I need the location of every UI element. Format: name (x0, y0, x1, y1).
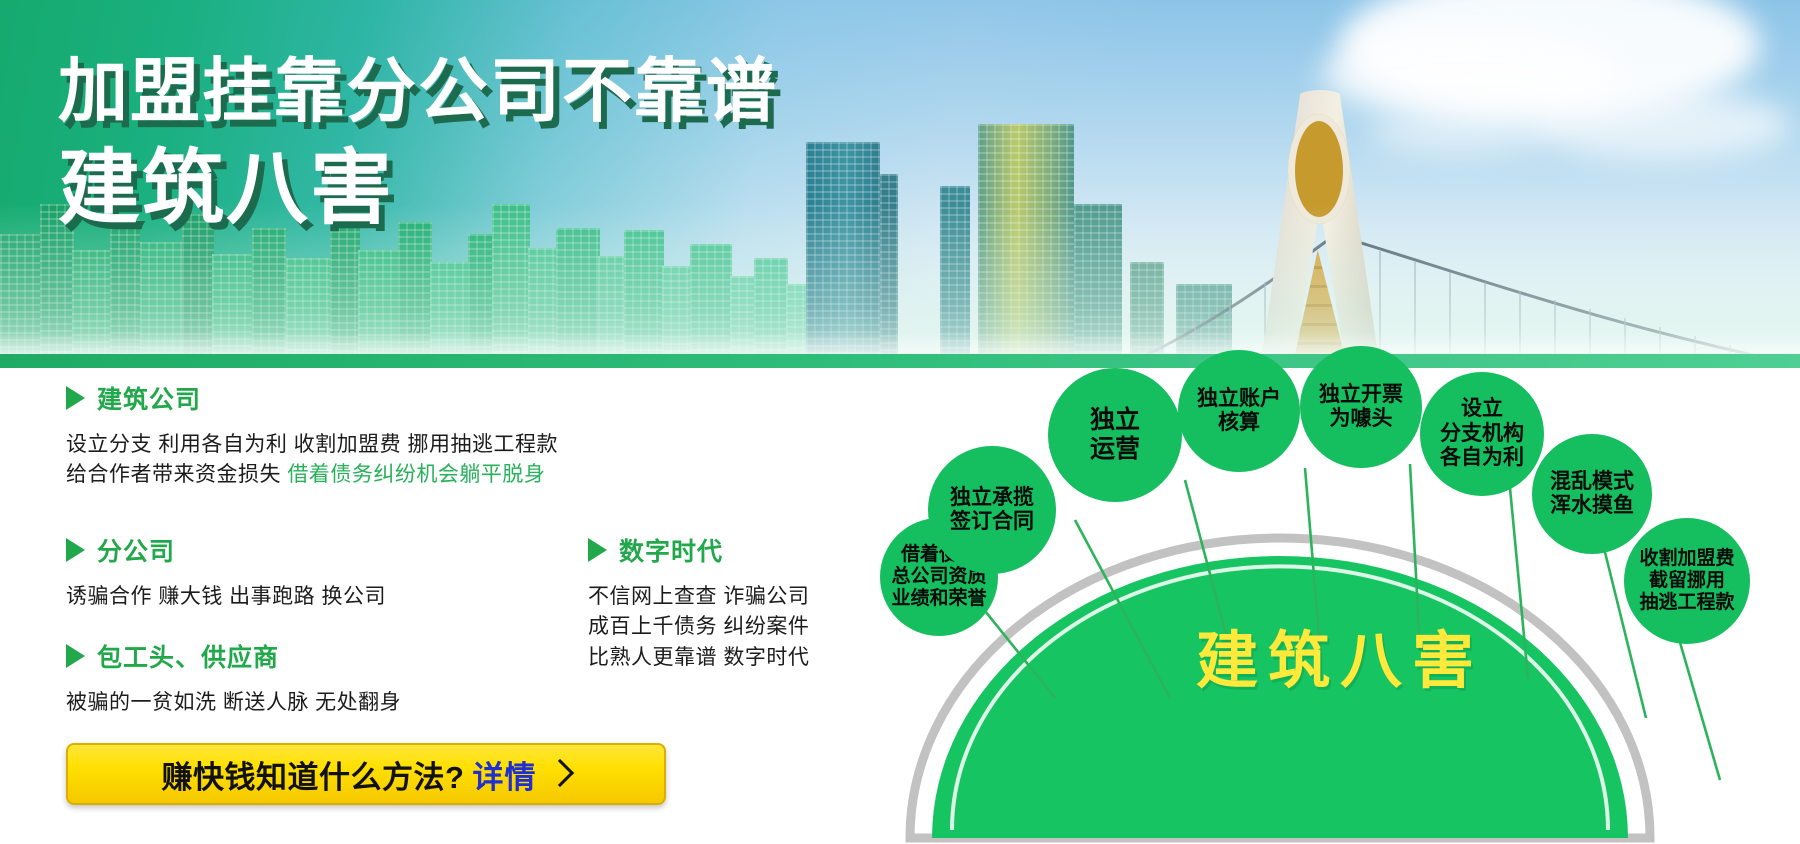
line-text: 设立分支 利用各自为利 收割加盟费 挪用抽逃工程款 (66, 433, 558, 456)
section-title: 包工头、供应商 (97, 638, 279, 674)
cta-label: 赚快钱知道什么方法? (162, 752, 465, 797)
section-title: 分公司 (97, 532, 175, 568)
triangle-bullet-icon (66, 386, 85, 410)
hero-title-line2: 建筑八害 (58, 148, 778, 230)
hero-title: 加盟挂靠分公司不靠谱 建筑八害 (58, 56, 778, 230)
section-heading: 包工头、供应商 (66, 638, 401, 674)
section-heading: 建筑公司 (66, 380, 558, 416)
bubble-independent-account[interactable]: 独立账户核算 (1178, 350, 1300, 472)
bubble-text: 独立账户核算 (1197, 387, 1281, 436)
section-branch-company: 分公司 诱骗合作 赚大钱 出事跑路 换公司 (66, 532, 386, 612)
bubble-harvest-franchise-fees[interactable]: 收割加盟费截留挪用抽逃工程款 (1624, 518, 1750, 644)
triangle-bullet-icon (66, 538, 85, 562)
triangle-bullet-icon (66, 644, 85, 668)
section-line: 诱骗合作 赚大钱 出事跑路 换公司 (66, 582, 386, 612)
bubble-text: 独立开票为噱头 (1319, 383, 1403, 432)
section-title: 数字时代 (619, 532, 723, 568)
banner-bottom-fade (0, 332, 1800, 354)
section-contractor-supplier: 包工头、供应商 被骗的一贫如洗 断送人脉 无处翻身 (66, 638, 401, 718)
hero-title-line1: 加盟挂靠分公司不靠谱 (58, 56, 778, 126)
section-line: 比熟人更靠谱 数字时代 (588, 643, 809, 673)
banner-green-strip (0, 354, 1800, 368)
bubble-independent-invoicing[interactable]: 独立开票为噱头 (1300, 346, 1422, 468)
poster-root: 加盟挂靠分公司不靠谱 建筑八害 建筑公司 设立分支 利用各自为利 收割加盟费 挪… (0, 0, 1800, 844)
line-highlight: 借着债务纠纷机会躺平脱身 (287, 463, 545, 486)
section-line: 设立分支 利用各自为利 收割加盟费 挪用抽逃工程款 (66, 430, 558, 460)
bubble-independent-contracting[interactable]: 独立承揽签订合同 (928, 446, 1056, 574)
section-line: 被骗的一贫如洗 断送人脉 无处翻身 (66, 688, 401, 718)
bubble-text: 设立分支机构各自为利 (1440, 397, 1524, 470)
section-heading: 分公司 (66, 532, 386, 568)
section-digital-era: 数字时代 不信网上查查 诈骗公司 成百上千债务 纠纷案件 比熟人更靠谱 数字时代 (588, 532, 809, 673)
section-line: 给合作者带来资金损失 借着债务纠纷机会躺平脱身 (66, 460, 558, 490)
section-line: 成百上千债务 纠纷案件 (588, 612, 809, 642)
bubble-text: 收割加盟费截留挪用抽逃工程款 (1639, 548, 1734, 614)
bubble-text: 独立运营 (1090, 406, 1140, 464)
section-construction-company: 建筑公司 设立分支 利用各自为利 收割加盟费 挪用抽逃工程款 给合作者带来资金损… (66, 380, 558, 491)
line-text: 给合作者带来资金损失 (66, 463, 287, 486)
bubble-diagram: 建筑八害 借着使用总公司资质业绩和荣誉 独立承揽签订合同 独立运营 独立账户核算… (880, 368, 1800, 844)
triangle-bullet-icon (588, 538, 607, 562)
bubble-text: 混乱模式浑水摸鱼 (1550, 470, 1634, 519)
bubble-set-up-branches[interactable]: 设立分支机构各自为利 (1420, 372, 1544, 496)
section-title: 建筑公司 (97, 380, 201, 416)
bubble-text: 独立承揽签订合同 (950, 486, 1034, 535)
left-content: 建筑公司 设立分支 利用各自为利 收割加盟费 挪用抽逃工程款 给合作者带来资金损… (0, 380, 880, 844)
section-line: 不信网上查查 诈骗公司 (588, 582, 809, 612)
cta-link-label: 详情 (472, 752, 536, 797)
hero-banner: 加盟挂靠分公司不靠谱 建筑八害 (0, 0, 1800, 368)
section-heading: 数字时代 (588, 532, 809, 568)
bubble-chaotic-model[interactable]: 混乱模式浑水摸鱼 (1532, 434, 1652, 554)
bubble-independent-operation[interactable]: 独立运营 (1048, 368, 1182, 502)
chevron-right-icon (546, 759, 574, 787)
cta-button[interactable]: 赚快钱知道什么方法? 详情 (66, 743, 666, 805)
